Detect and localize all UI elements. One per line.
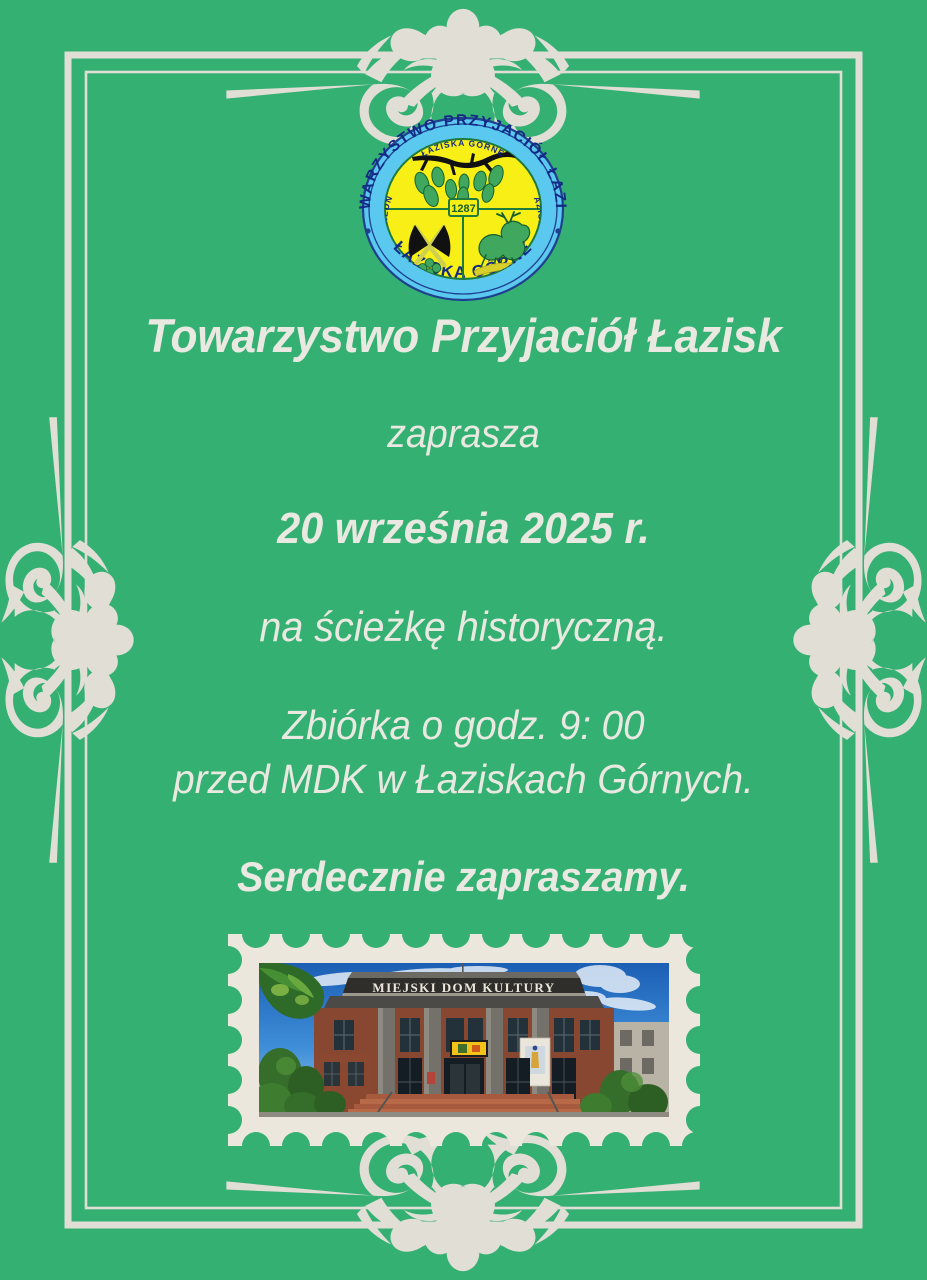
poster-meeting-place: przed MDK w Łaziskach Górnych.: [28, 759, 899, 800]
poster-date: 20 września 2025 r.: [28, 507, 899, 551]
poster-text-block: Towarzystwo Przyjaciół Łazisk zaprasza 2…: [0, 312, 927, 898]
crest-ring-dot-right: [555, 228, 560, 233]
poster-closing: Serdecznie zapraszamy.: [28, 856, 899, 898]
poster-invites-line: zaprasza: [28, 414, 899, 454]
poster-meeting-time: Zbiórka o godz. 9: 00: [28, 705, 899, 746]
crest-year-shield: 1287: [449, 199, 478, 216]
poster-activity: na ścieżkę historyczną.: [28, 606, 899, 648]
stamp-photograph: MIEJSKI DOM KULTURY: [252, 958, 669, 1120]
poster-title: Towarzystwo Przyjaciół Łazisk: [28, 312, 899, 359]
crest-logo: TOWARZYSTWO PRZYJACIÓŁ ŁAZISK ŁAZISKA GÓ…: [352, 113, 574, 305]
poster-canvas: TOWARZYSTWO PRZYJACIÓŁ ŁAZISK ŁAZISKA GÓ…: [0, 0, 927, 1280]
crest-year-text: 1287: [451, 203, 475, 215]
building-sign-text: MIEJSKI DOM KULTURY: [372, 980, 555, 995]
stamp-photo: MIEJSKI DOM KULTURY: [228, 934, 700, 1146]
ornament-bottom: [226, 1130, 699, 1271]
crest-ring-dot-left: [365, 228, 370, 233]
